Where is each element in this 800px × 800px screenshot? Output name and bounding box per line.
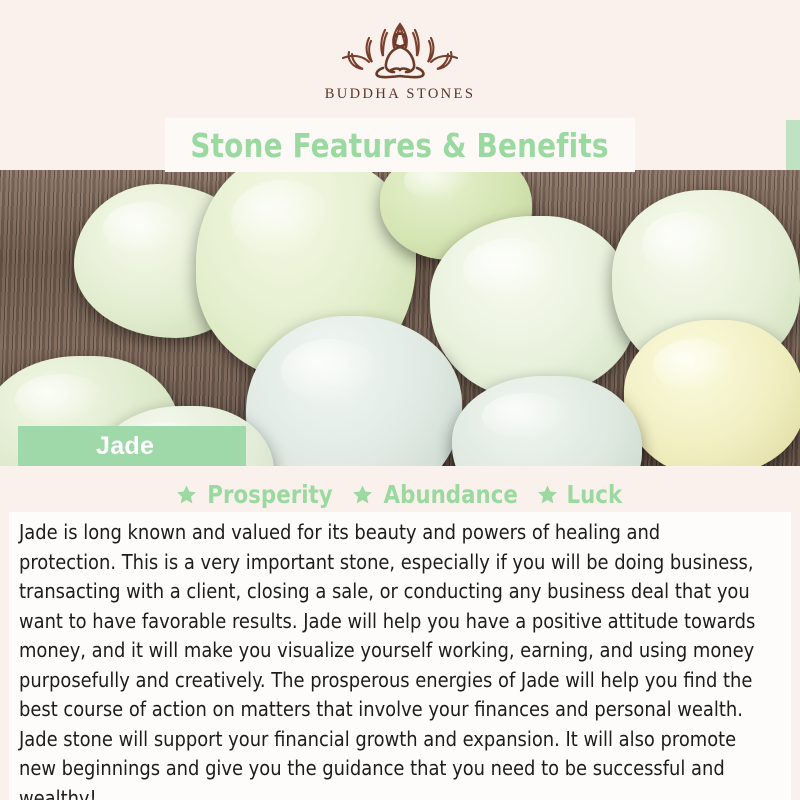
- benefit-item-prosperity: Prosperity: [176, 480, 336, 509]
- benefit-label: Luck: [567, 480, 623, 509]
- benefit-label: Prosperity: [207, 480, 332, 509]
- stone-description-section: Prosperity Abundance Luck Jade is long k…: [0, 466, 800, 800]
- jade-stone: [624, 320, 800, 466]
- stone-name-bar: Jade: [18, 426, 246, 466]
- star-icon: [537, 484, 558, 505]
- benefits-row: Prosperity Abundance Luck: [0, 466, 800, 514]
- stone-photo: [0, 170, 800, 466]
- stone-name: Jade: [96, 432, 154, 461]
- benefit-label: Abundance: [384, 480, 518, 509]
- infographic-page: BUDDHA STONES Stone Features & Benefits …: [0, 0, 800, 800]
- benefit-item-luck: Luck: [537, 480, 624, 509]
- brand-header: BUDDHA STONES: [0, 0, 800, 120]
- benefit-item-abundance: Abundance: [352, 480, 521, 509]
- star-icon: [352, 484, 373, 505]
- page-title: Stone Features & Benefits: [191, 126, 609, 165]
- section-title-band: Stone Features & Benefits: [165, 118, 635, 172]
- jade-stone: [430, 216, 636, 398]
- description-panel: Jade is long known and valued for its be…: [9, 512, 791, 800]
- description-text: Jade is long known and valued for its be…: [19, 518, 758, 800]
- star-icon: [176, 484, 197, 505]
- lotus-meditation-icon: [325, 18, 475, 80]
- brand-name: BUDDHA STONES: [325, 86, 476, 103]
